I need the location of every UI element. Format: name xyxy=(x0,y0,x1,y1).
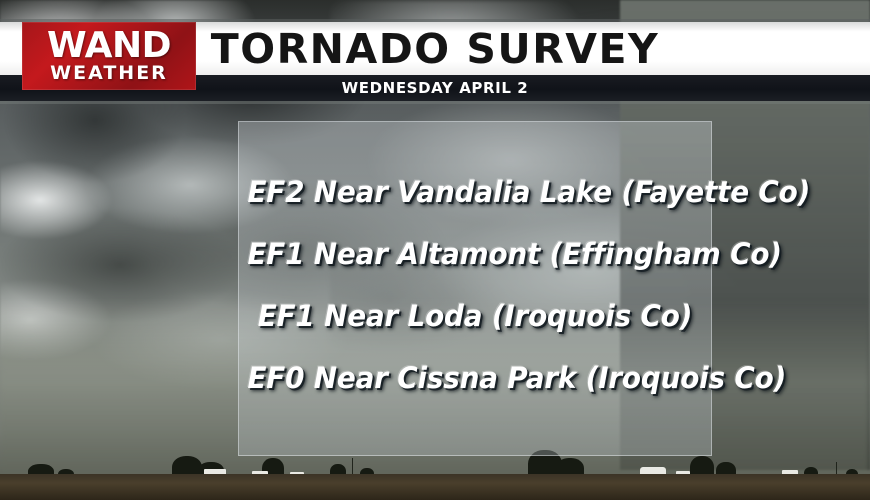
list-item: EF1 Near Loda (Iroquois Co) xyxy=(247,299,702,333)
weather-graphic: TORNADO SURVEY WEDNESDAY APRIL 2 WAND WE… xyxy=(0,0,870,500)
logo-secondary-text: WEATHER xyxy=(50,64,168,84)
band-edge-bottom xyxy=(0,101,870,104)
survey-list: EF2 Near Vandalia Lake (Fayette Co) EF1 … xyxy=(238,121,712,456)
wand-weather-logo: WAND WEATHER xyxy=(22,22,196,90)
logo-primary-text: WAND xyxy=(47,28,171,63)
list-item: EF1 Near Altamont (Effingham Co) xyxy=(247,237,702,271)
foreground-ground xyxy=(0,474,870,500)
list-item: EF2 Near Vandalia Lake (Fayette Co) xyxy=(247,175,702,209)
list-item: EF0 Near Cissna Park (Iroquois Co) xyxy=(247,361,702,395)
